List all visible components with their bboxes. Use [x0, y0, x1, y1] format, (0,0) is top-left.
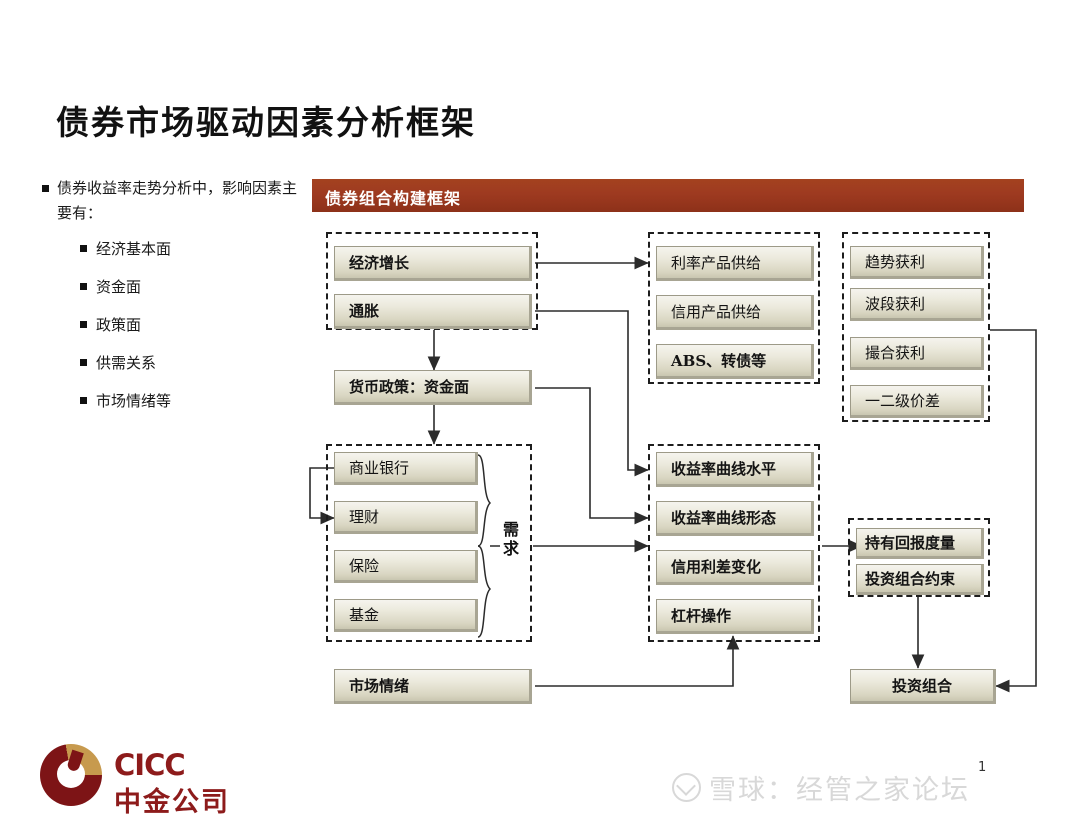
- node-rate-product-supply[interactable]: 利率产品供给: [656, 246, 814, 281]
- node-inflation[interactable]: 通胀: [334, 294, 532, 329]
- node-leverage-operation[interactable]: 杠杆操作: [656, 599, 814, 634]
- node-credit-product-supply[interactable]: 信用产品供给: [656, 295, 814, 330]
- node-primary-secondary-spread[interactable]: 一二级价差: [850, 385, 984, 418]
- node-wealth-management[interactable]: 理财: [334, 501, 478, 534]
- node-portfolio-constraint[interactable]: 投资组合约束: [856, 564, 984, 595]
- node-market-sentiment[interactable]: 市场情绪: [334, 669, 532, 704]
- node-economic-growth[interactable]: 经济增长: [334, 246, 532, 281]
- node-swing-profit[interactable]: 波段获利: [850, 288, 984, 321]
- node-commercial-bank[interactable]: 商业银行: [334, 452, 478, 485]
- node-abs-convertible[interactable]: ABS、转债等: [656, 344, 814, 379]
- node-monetary-policy[interactable]: 货币政策：资金面: [334, 370, 532, 405]
- node-fund[interactable]: 基金: [334, 599, 478, 632]
- logo-cn-text: 中金公司: [114, 780, 230, 819]
- node-trend-profit[interactable]: 趋势获利: [850, 246, 984, 279]
- watermark-text: 雪球：经管之家论坛: [709, 768, 970, 807]
- watermark: 雪球：经管之家论坛: [672, 768, 970, 807]
- node-yield-curve-shape[interactable]: 收益率曲线形态: [656, 501, 814, 536]
- cicc-logo: CICC 中金公司: [40, 742, 250, 814]
- diagram-canvas: 经济增长 通胀 货币政策：资金面 商业银行 理财 保险 基金 需求 市场情绪: [0, 0, 1080, 834]
- logo-en-text: CICC: [114, 748, 185, 782]
- node-insurance[interactable]: 保险: [334, 550, 478, 583]
- demand-brace-label: 需求: [497, 521, 521, 559]
- node-matching-profit[interactable]: 撮合获利: [850, 337, 984, 370]
- node-yield-curve-level[interactable]: 收益率曲线水平: [656, 452, 814, 487]
- slide: 债券市场驱动因素分析框架 债券收益率走势分析中，影响因素主要有： 经济基本面 资…: [0, 0, 1080, 834]
- node-portfolio[interactable]: 投资组合: [850, 669, 996, 704]
- cicc-logo-mark-icon: [40, 744, 102, 806]
- watermark-ring-icon: [672, 773, 701, 802]
- node-credit-spread-change[interactable]: 信用利差变化: [656, 550, 814, 585]
- node-holding-return-measure[interactable]: 持有回报度量: [856, 528, 984, 559]
- page-number: 1: [978, 760, 986, 775]
